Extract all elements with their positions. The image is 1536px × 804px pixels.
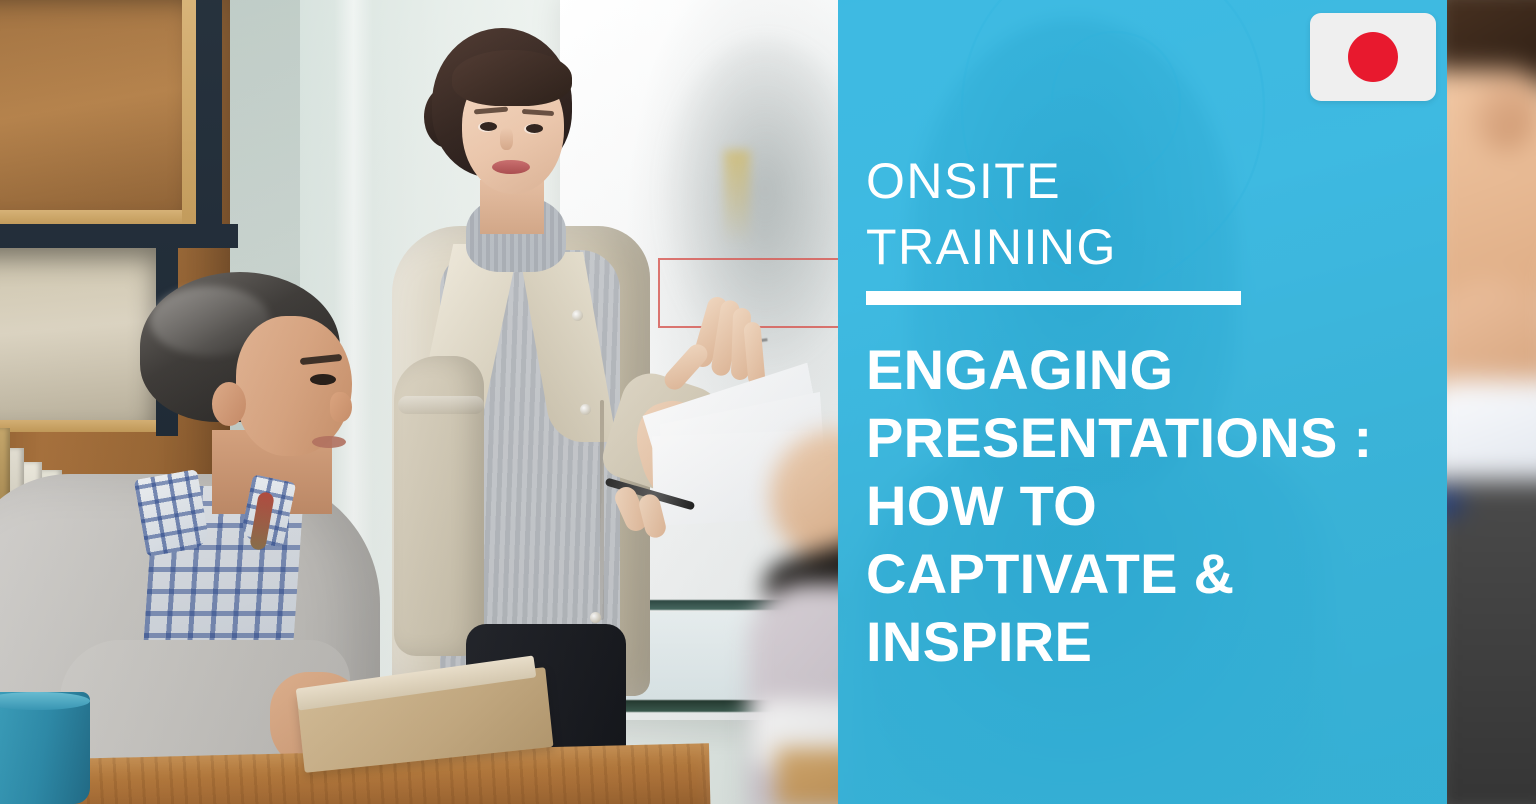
japan-flag-icon bbox=[1348, 32, 1398, 82]
whiteboard-marker-smudge bbox=[724, 150, 750, 245]
presenter-lips bbox=[492, 160, 530, 174]
attendee-eye bbox=[310, 374, 336, 385]
right-edge-photo-inner bbox=[1447, 0, 1536, 804]
presenter-hair-fringe bbox=[452, 50, 572, 106]
attendee-nose bbox=[330, 392, 352, 422]
presenter-jacket-zip bbox=[600, 400, 604, 620]
page-title: ENGAGING PRESENTATIONS : HOW TO CAPTIVAT… bbox=[866, 336, 1411, 676]
shelf-cavity-top bbox=[0, 0, 196, 220]
presenter-jacket-button bbox=[580, 404, 591, 415]
edge-person-ear bbox=[1475, 80, 1535, 150]
shelf-edge-light-3 bbox=[0, 420, 156, 432]
attendee-ear bbox=[212, 382, 246, 426]
attendee-lips bbox=[312, 436, 346, 448]
japan-flag-badge[interactable] bbox=[1310, 13, 1436, 101]
shelf-frame-vertical-1 bbox=[196, 0, 222, 248]
shelf-edge-light-1 bbox=[0, 210, 196, 224]
banner-text-block: ONSITE TRAINING ENGAGING PRESENTATIONS :… bbox=[866, 0, 1426, 804]
right-edge-photo-strip bbox=[1447, 0, 1536, 804]
training-course-banner: ONSITE TRAINING ENGAGING PRESENTATIONS :… bbox=[0, 0, 1536, 804]
edge-dark-surface bbox=[1447, 480, 1536, 804]
presenter-eye-left bbox=[480, 122, 497, 131]
attendee-shirt-collar-left bbox=[134, 469, 211, 557]
white-rule-divider bbox=[866, 291, 1241, 305]
attendee-face bbox=[236, 316, 352, 456]
shelf-cavity-mid bbox=[0, 248, 156, 428]
presenter-eye-right bbox=[526, 124, 543, 133]
course-kicker: ONSITE TRAINING bbox=[866, 148, 1117, 280]
presenter-sleeve-cuff bbox=[398, 396, 484, 414]
presenter-jacket-button bbox=[572, 310, 583, 321]
presenter-jacket-button bbox=[590, 612, 601, 623]
shelf-edge-light-2 bbox=[182, 0, 196, 224]
presenter-nose bbox=[500, 128, 513, 150]
edge-person-shirt bbox=[1447, 380, 1536, 490]
